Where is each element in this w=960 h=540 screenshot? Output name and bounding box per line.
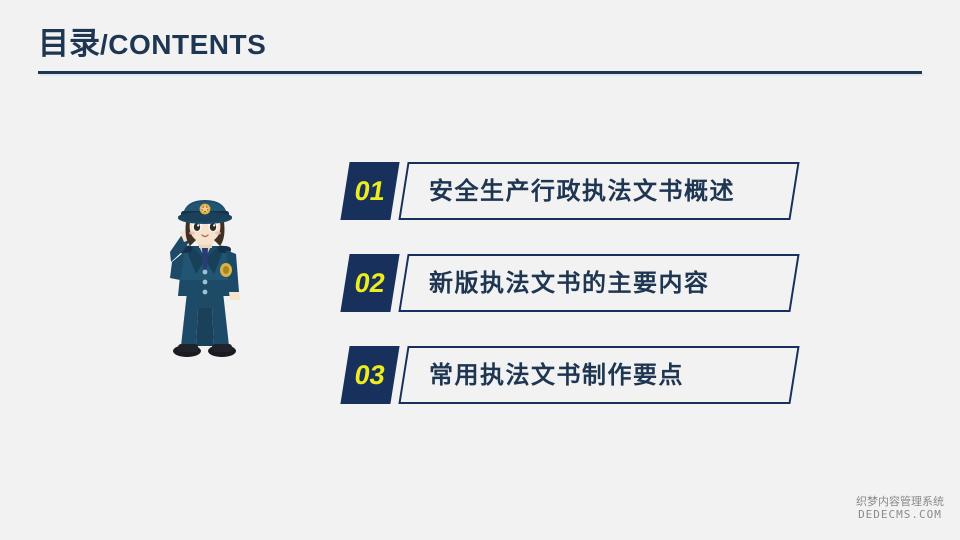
watermark: 织梦内容管理系统 DEDECMS.COM — [848, 495, 952, 521]
contents-label-01: 安全生产行政执法文书概述 — [403, 162, 795, 220]
watermark-text-en: DEDECMS.COM — [848, 508, 952, 521]
contents-list: 01 安全生产行政执法文书概述 02 新版执法文书的主要内容 03 常用执法文书… — [0, 0, 960, 540]
watermark-text-cn: 织梦内容管理系统 — [848, 495, 952, 508]
contents-number-03: 03 — [340, 346, 399, 404]
contents-number-01: 01 — [340, 162, 399, 220]
contents-label-02: 新版执法文书的主要内容 — [403, 254, 795, 312]
slide-canvas: 目录/CONTENTS — [0, 0, 960, 540]
contents-label-03: 常用执法文书制作要点 — [403, 346, 795, 404]
contents-number-02: 02 — [340, 254, 399, 312]
